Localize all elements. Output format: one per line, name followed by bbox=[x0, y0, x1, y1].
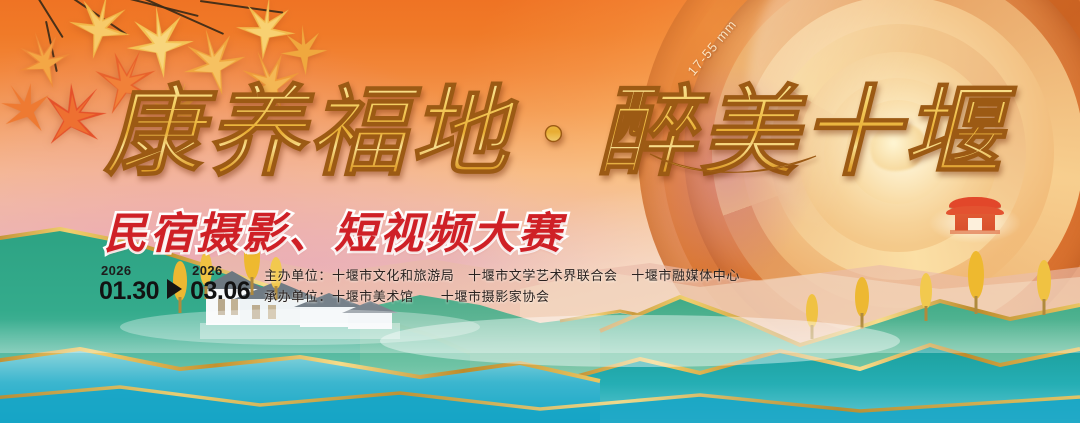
organizer-block: 主办单位：十堰市文化和旅游局 十堰市文学艺术界联合会 十堰市融媒体中心 承办单位… bbox=[264, 265, 784, 307]
title-text: 康养福地 · 醉美十堰 bbox=[103, 80, 1018, 188]
end-day: 03.06 bbox=[190, 279, 250, 304]
end-year: 2026 bbox=[192, 264, 250, 277]
host-organizations: 主办单位：十堰市文化和旅游局 十堰市文学艺术界联合会 十堰市融媒体中心 bbox=[264, 265, 784, 286]
subtitle-text: 民宿摄影、短视频大赛 bbox=[104, 199, 564, 261]
maple-leaf bbox=[273, 19, 334, 80]
event-date-range: 2026 01.30 2026 03.06 bbox=[99, 264, 250, 304]
coorganizer-organizations: 承办单位：十堰市美术馆 十堰市摄影家协会 bbox=[264, 286, 784, 307]
start-date: 2026 01.30 bbox=[99, 264, 159, 304]
title-flourish bbox=[646, 148, 822, 188]
end-date: 2026 03.06 bbox=[190, 264, 250, 304]
poster-banner: 17-55 mm 1:2.8 bbox=[0, 0, 1080, 423]
play-triangle-icon bbox=[167, 279, 182, 299]
start-year: 2026 bbox=[101, 264, 159, 277]
start-day: 01.30 bbox=[99, 279, 159, 304]
